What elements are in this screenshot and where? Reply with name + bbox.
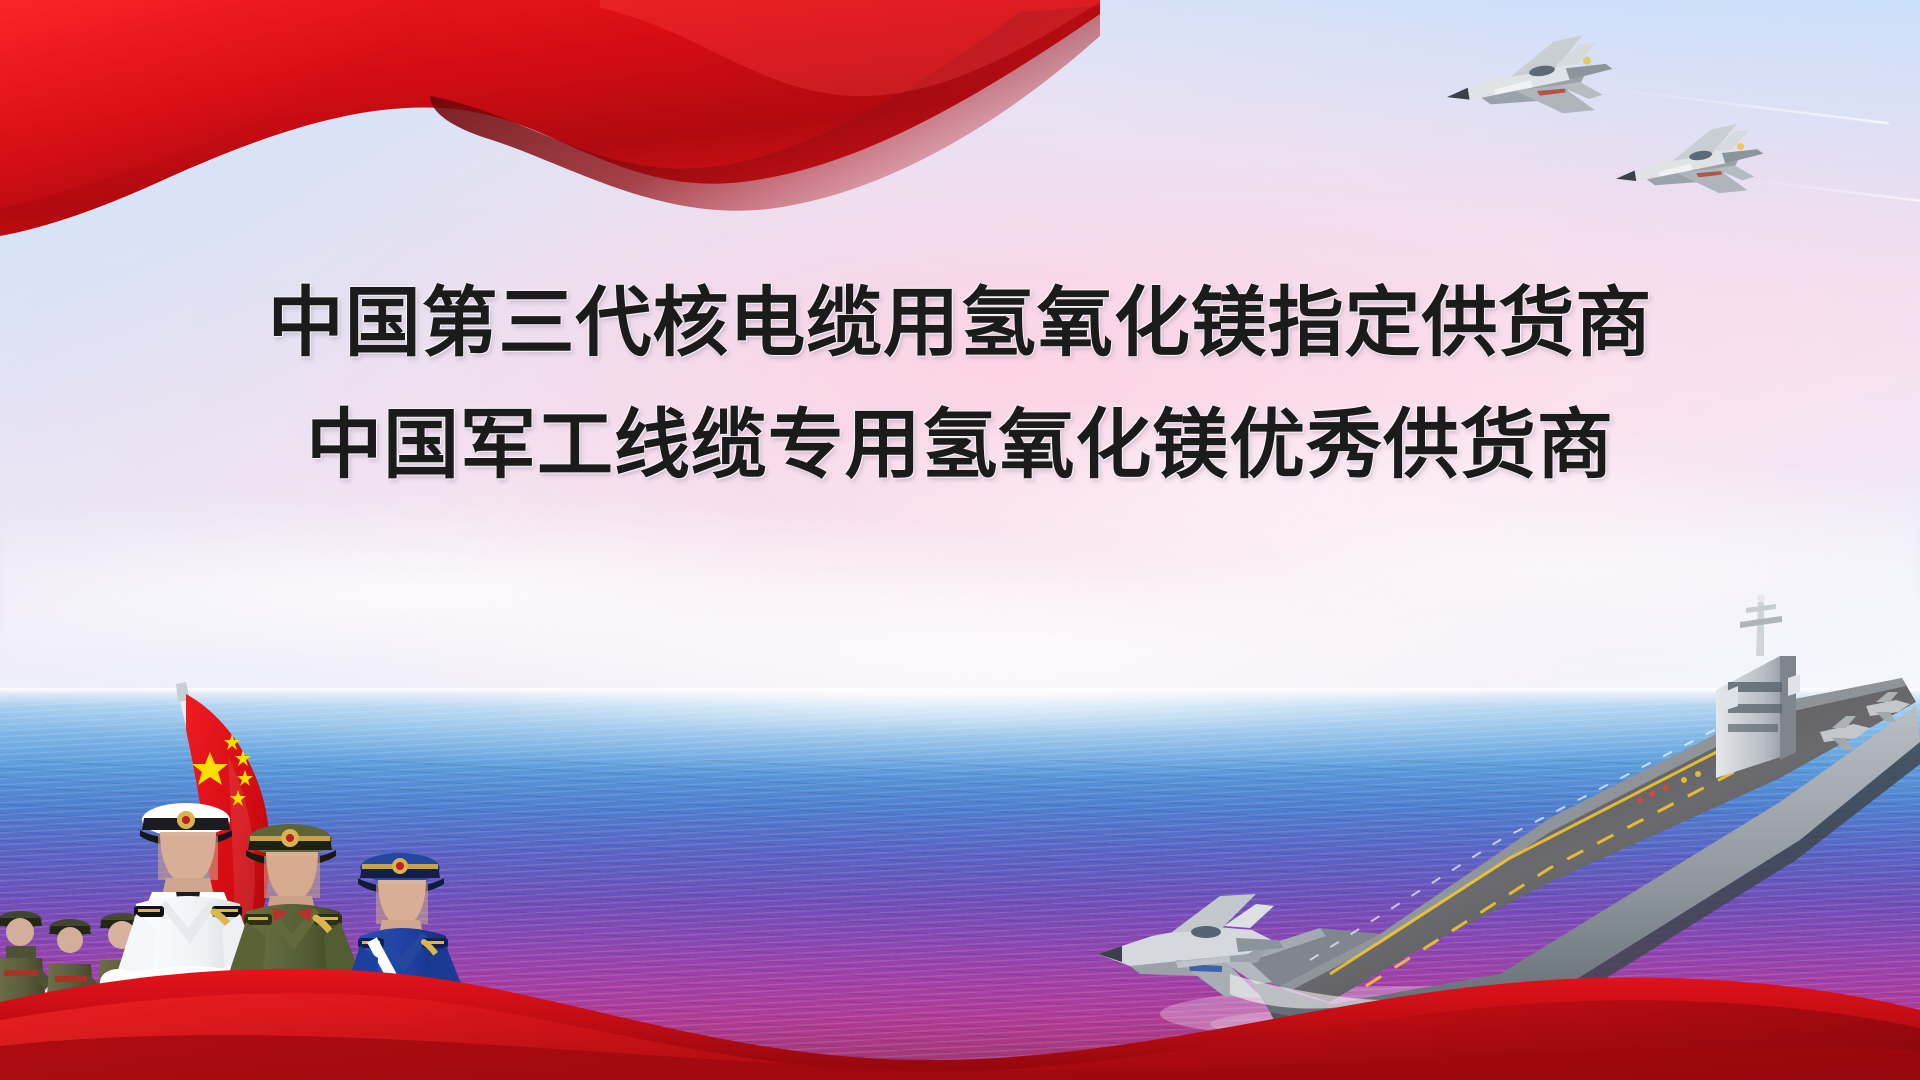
red-silk-flag [0,0,1100,260]
red-wave-ribbon [0,950,1920,1080]
banner-root: 中国第三代核电缆用氢氧化镁指定供货商 中国军工线缆专用氢氧化镁优秀供货商 [0,0,1920,1080]
